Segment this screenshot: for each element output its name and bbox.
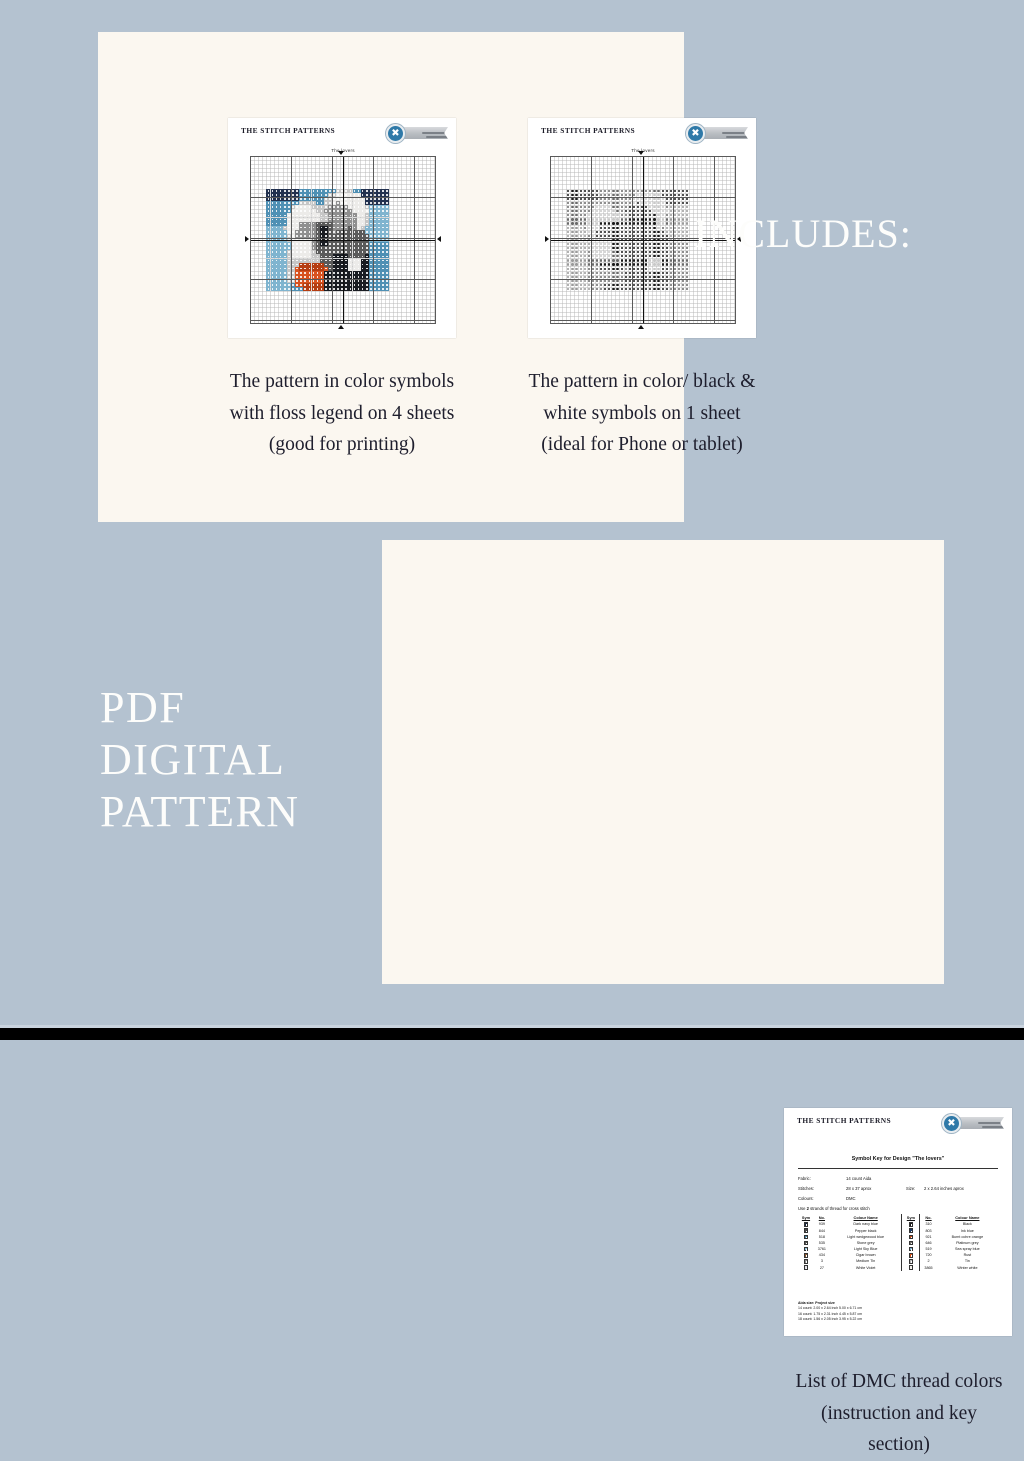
color-symbol-pattern-sheet: THE STITCH PATTERNS The lovers [228,118,456,338]
symbol-swatch-icon [804,1259,808,1263]
badge-text-line-2 [982,1126,1004,1128]
fabric-label: Fabric: [798,1176,811,1181]
pattern-keeper-tested-badge [386,124,448,142]
stitches-value: 28 x 37 aprox [846,1186,871,1191]
badge-text-line-2 [726,136,748,138]
size-label: Size: [906,1186,915,1191]
symbol-swatch-cell [798,1265,814,1271]
symbol-swatch-icon [804,1265,808,1269]
sheet-header: THE STITCH PATTERNS [528,118,756,144]
symbol-col-header: Colour Name [937,1214,998,1221]
poster-canvas: THE STITCH PATTERNS The lovers [0,0,1024,1040]
badge-ribbon [700,127,748,139]
center-marker-left [545,236,549,242]
symbol-col-header: Sym [902,1214,920,1221]
symbol-col-header: No. [920,1214,937,1221]
dmc-number: 27 [814,1265,830,1271]
badge-ribbon [956,1117,1004,1129]
aida-size-16: 16 count: 1.75 x 2.31 inch 4.45 x 5.87 c… [798,1312,862,1316]
badge-text-line-1 [722,132,754,134]
symbol-swatch-icon [909,1259,913,1263]
divider [798,1168,998,1169]
symbol-swatch-icon [909,1247,913,1251]
center-marker-top [338,151,344,155]
pdf-digital-pattern-heading: PDF DIGITAL PATTERN [100,682,300,838]
center-marker-bottom [338,325,344,329]
symbol-col-header: Sym [798,1214,814,1221]
bottom-black-strip [0,1028,1024,1040]
x-mark-icon [686,124,705,143]
aida-size-title: Aida size: Project size [798,1301,835,1305]
x-mark-icon [386,124,405,143]
top-feature-card: THE STITCH PATTERNS The lovers [98,32,684,522]
symbol-swatch-icon [804,1228,808,1232]
center-marker-left [245,236,249,242]
chart-grid [250,156,436,324]
symbol-col-header: Colour Name [830,1214,902,1221]
pdf-line-1: PDF [100,682,300,734]
symbol-swatch-icon [804,1235,808,1239]
symbol-swatch-icon [909,1222,913,1226]
size-value: 2 x 2.64 inches aprox [924,1186,964,1191]
caption-color-symbols: The pattern in color symbols with floss … [226,366,458,461]
sheet-header: THE STITCH PATTERNS [784,1108,1012,1134]
badge-text-line-2 [426,136,448,138]
aida-size-18: 18 count: 1.56 x 2.05 inch 3.95 x 5.22 c… [798,1317,862,1321]
symbol-swatch-icon [909,1253,913,1257]
aida-size-14: 14 count: 2.00 x 2.64 inch 5.00 x 6.71 c… [798,1306,862,1310]
dmc-number: 3865 [920,1265,937,1271]
stitches-label: Stitches: [798,1186,814,1191]
badge-ribbon [400,127,448,139]
symbol-swatch-icon [909,1241,913,1245]
symbol-swatch-icon [909,1265,913,1269]
x-mark-icon [942,1114,961,1133]
colours-value: DMC [846,1196,856,1201]
center-marker-bottom [638,325,644,329]
symbol-swatch-icon [804,1253,808,1257]
grid-border [250,156,436,324]
symbol-legend-table: SymNo.Colour NameSymNo.Colour Name939Dar… [798,1214,998,1271]
strands-note-prefix: Use [798,1206,807,1211]
symbol-key-sheet: THE STITCH PATTERNS Symbol Key for Desig… [784,1108,1012,1336]
pdf-line-2: DIGITAL [100,734,300,786]
colours-label: Colours: [798,1196,814,1201]
pdf-line-3: PATTERN [100,786,300,838]
symbol-swatch-icon [804,1222,808,1226]
sheet-brand-title: THE STITCH PATTERNS [797,1116,891,1125]
table-row: 27White Violet3865Winter white [798,1265,998,1271]
sheet-brand-title: THE STITCH PATTERNS [241,126,335,135]
symbol-swatch-icon [909,1235,913,1239]
symbol-col-header: No. [814,1214,830,1221]
symbol-key-title: Symbol Key for Design "The lovers" [784,1156,1012,1162]
center-marker-right [437,236,441,242]
colour-name: White Violet [830,1265,902,1271]
center-marker-top [638,151,644,155]
colour-name: Winter white [937,1265,998,1271]
symbol-swatch-icon [909,1228,913,1232]
fabric-value: 14 count Aida [846,1176,871,1181]
bottom-feature-card: THE STITCH PATTERNS Symbol Key for Desig… [382,540,944,984]
caption-bw-symbols: The pattern in color/ black & white symb… [520,366,764,461]
pattern-keeper-tested-badge [942,1114,1004,1132]
symbol-swatch-cell [902,1265,920,1271]
symbol-swatch-icon [804,1241,808,1245]
aida-size-footer: Aida size: Project size 14 count: 2.00 x… [798,1301,862,1322]
strands-note: Use 2 strands of thread for cross stitch [798,1206,870,1211]
badge-text-line-1 [978,1122,1010,1124]
caption-dmc-list: List of DMC thread colors (instruction a… [788,1366,1010,1461]
symbol-swatch-icon [804,1247,808,1251]
sheet-brand-title: THE STITCH PATTERNS [541,126,635,135]
badge-text-line-1 [422,132,454,134]
pattern-keeper-tested-badge [686,124,748,142]
color-chart: The lovers [250,148,436,326]
includes-heading: INCLUDES: [694,214,912,254]
sheet-header: THE STITCH PATTERNS [228,118,456,144]
strands-note-suffix: strands of thread for cross stitch [809,1206,870,1211]
